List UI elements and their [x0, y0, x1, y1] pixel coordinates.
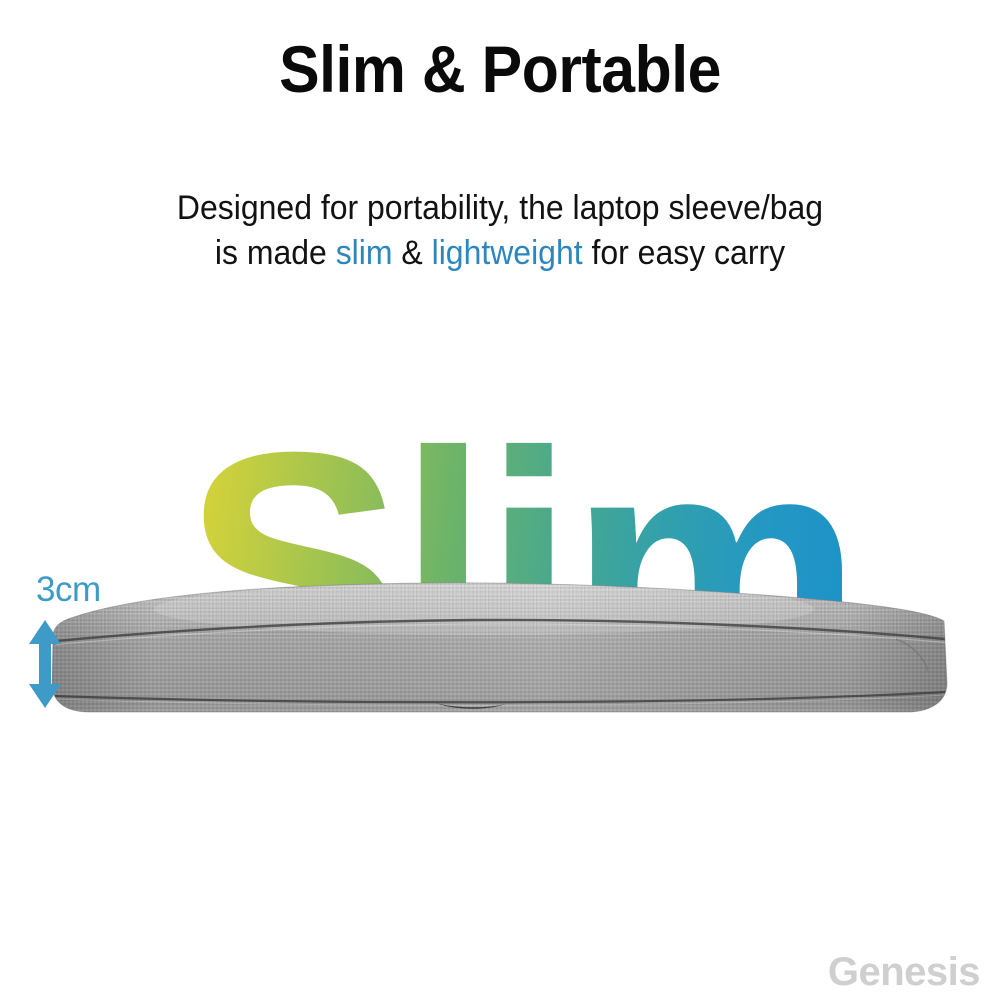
- subtitle-text-segment: is made: [215, 234, 336, 272]
- subtitle-text-segment: for easy carry: [583, 234, 785, 272]
- product-feature-slide: Slim & Portable Designed for portability…: [0, 0, 1000, 1000]
- dimension-label-3cm: 3cm: [36, 572, 101, 607]
- brand-watermark: Genesis: [828, 952, 980, 992]
- subtitle-highlight-slim: slim: [336, 234, 393, 272]
- double-arrow-vertical-icon: [26, 618, 64, 710]
- product-image-laptop-sleeve: [44, 575, 956, 725]
- subtitle-highlight-lightweight: lightweight: [432, 234, 583, 272]
- subtitle-text-segment: &: [393, 234, 432, 272]
- page-title: Slim & Portable: [40, 36, 960, 102]
- subtitle-line-2: is made slim & lightweight for easy carr…: [30, 231, 970, 276]
- subtitle-block: Designed for portability, the laptop sle…: [30, 186, 970, 276]
- subtitle-line-1: Designed for portability, the laptop sle…: [30, 186, 970, 231]
